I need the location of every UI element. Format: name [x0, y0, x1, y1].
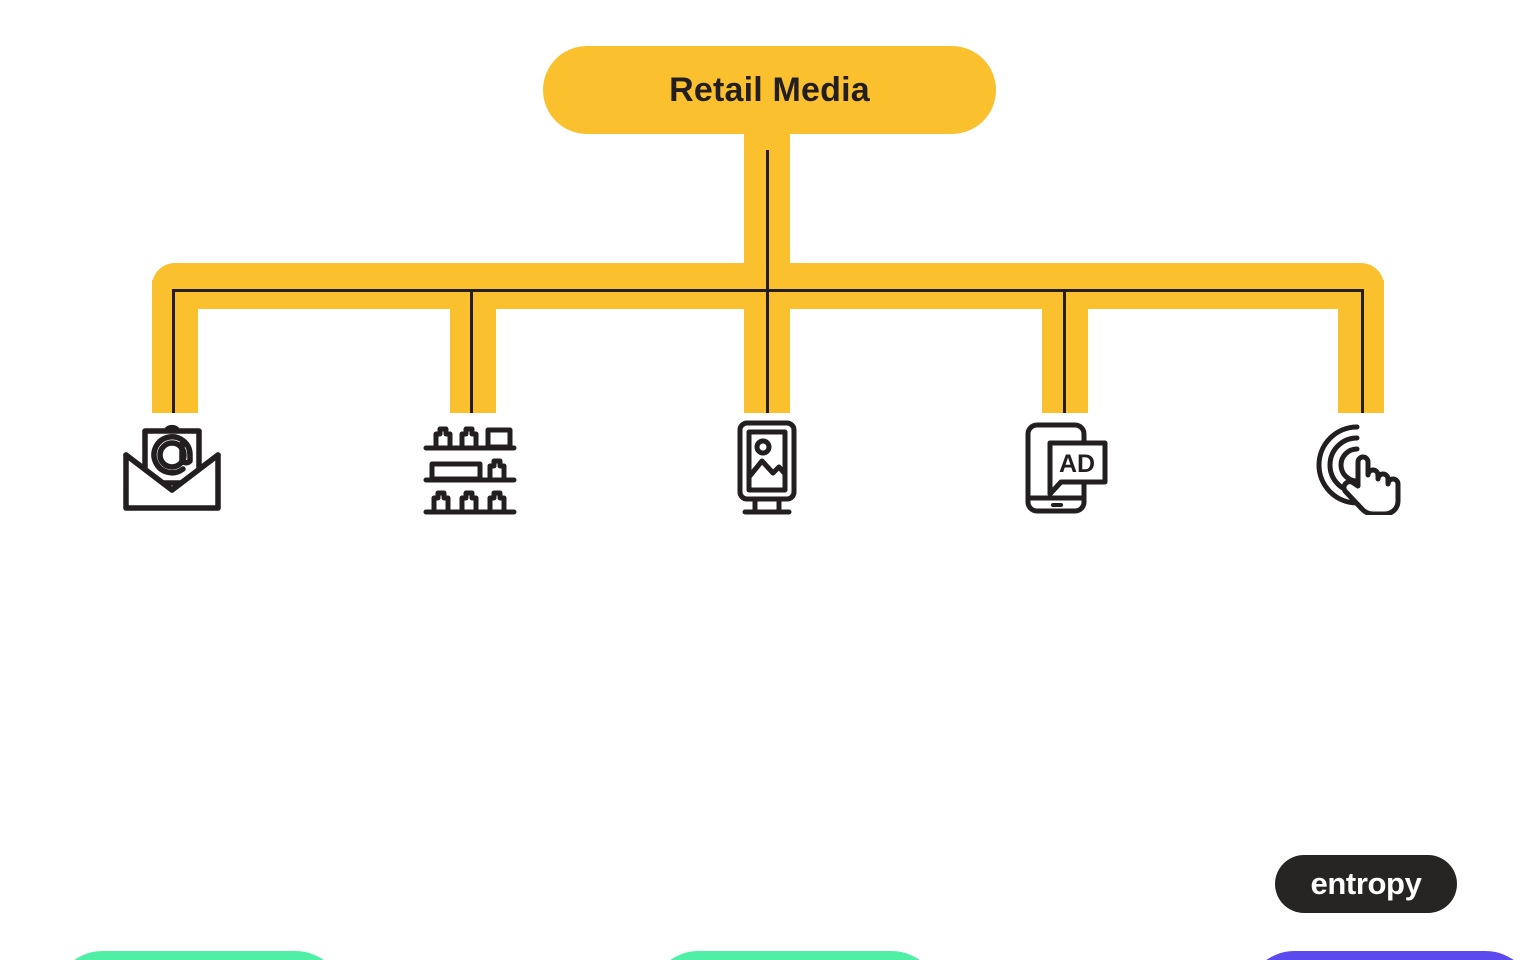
branch-column-in-store: In Store Signage Endcaps FSDUs POS Sampl…: [325, 418, 615, 518]
branch-column-on-site: AD On Site Sponsored products Display Br…: [922, 418, 1206, 518]
category-pill-digital-in-store[interactable]: Digital In Store: [1246, 951, 1534, 960]
connector-drop-2: [450, 280, 496, 413]
category-pill-in-store[interactable]: In Store: [650, 951, 940, 960]
phone-ad-icon: AD: [922, 418, 1206, 518]
envelope-at-icon: [27, 418, 317, 518]
connector-line-drop-4: [1063, 289, 1066, 413]
connector-drop-1: [152, 280, 198, 413]
branch-column-crm: CRM Direct mail Catalogues Email Coupons…: [27, 418, 317, 518]
digital-kiosk-icon: [623, 418, 911, 518]
svg-text:AD: AD: [1059, 450, 1095, 478]
tap-click-icon: [1220, 418, 1510, 518]
shelf-products-icon: [325, 418, 615, 518]
connector-line-drop-5: [1361, 289, 1364, 413]
root-node-label: Retail Media: [669, 71, 870, 110]
entropy-logo-text: entropy: [1311, 866, 1422, 902]
entropy-logo: entropy: [1275, 855, 1457, 913]
diagram-canvas: Retail Media CRM Direct mail: [0, 0, 1536, 960]
connector-line-drop-1: [172, 289, 175, 413]
root-node-retail-media: Retail Media: [543, 46, 996, 134]
category-pill-crm[interactable]: CRM: [54, 951, 344, 960]
connector-line-drop-2: [470, 289, 473, 413]
branch-column-digital-in-store: Digital In Store Digital screens/signage…: [623, 418, 911, 518]
connector-line-drop-3: [766, 289, 769, 413]
connector-line-stem: [766, 150, 769, 292]
branch-column-off-site: Off Site Retailer managed Data/self serv…: [1220, 418, 1510, 518]
